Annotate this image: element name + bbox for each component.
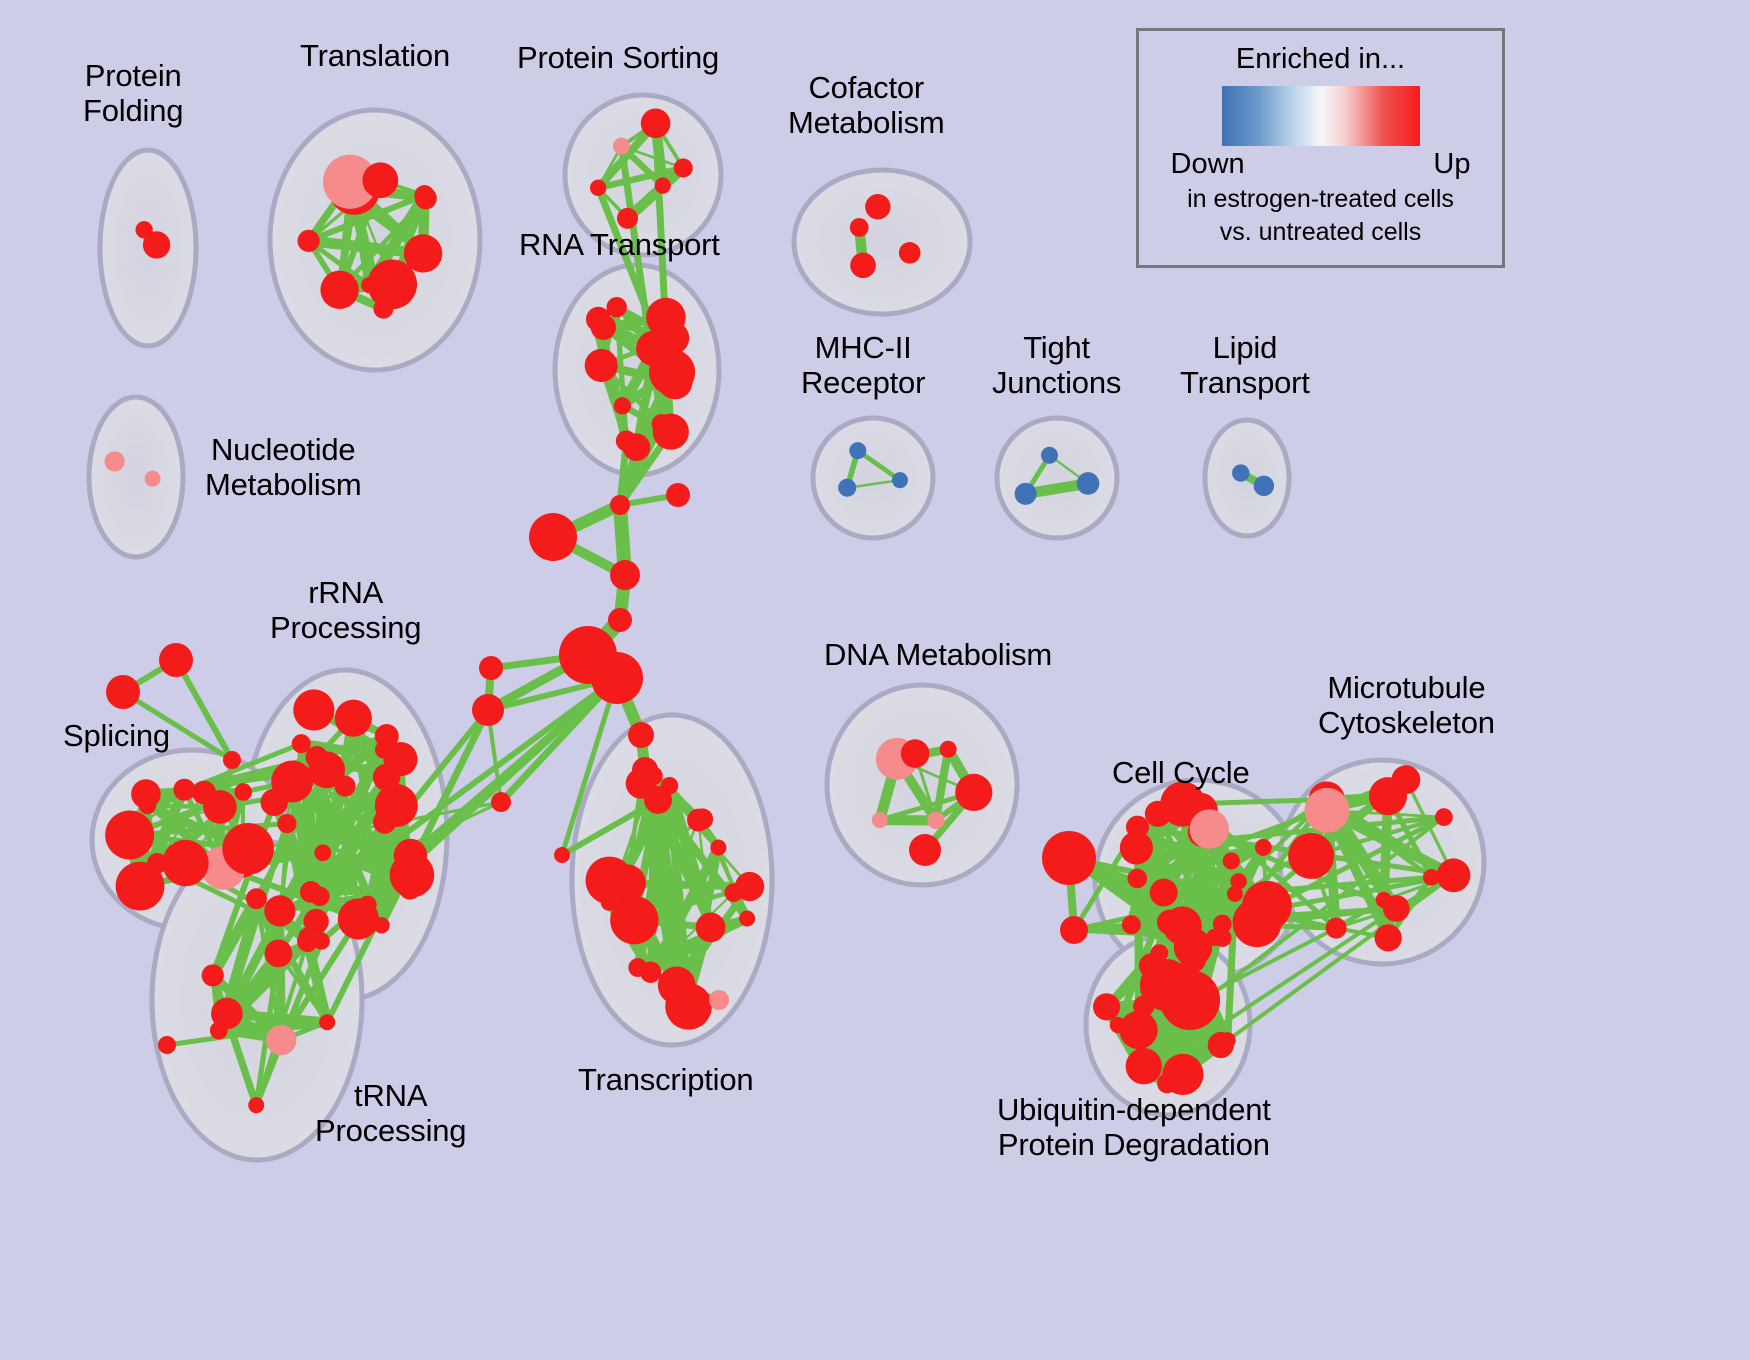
cluster-label-protein-folding: Protein Folding <box>83 58 183 129</box>
network-node <box>1255 839 1272 856</box>
legend-low-label: Down <box>1171 148 1245 181</box>
network-node <box>1126 816 1149 839</box>
network-node <box>1435 808 1453 826</box>
network-node <box>335 700 372 737</box>
network-node <box>901 739 930 768</box>
network-node <box>246 888 267 909</box>
network-node <box>1119 1011 1157 1049</box>
network-node <box>335 776 356 797</box>
network-node <box>849 442 866 459</box>
network-node <box>1223 852 1240 869</box>
network-node <box>1110 1017 1126 1033</box>
network-node <box>710 840 726 856</box>
network-node <box>1042 831 1096 885</box>
network-node <box>222 823 274 875</box>
network-node <box>1254 476 1274 496</box>
network-node <box>850 253 876 279</box>
network-node <box>628 958 647 977</box>
network-node <box>1232 464 1249 481</box>
network-node <box>116 862 165 911</box>
network-node <box>614 397 631 414</box>
network-node <box>653 414 689 450</box>
cluster-hull-cofactor-metabolism <box>794 170 970 314</box>
network-node <box>591 652 643 704</box>
network-node <box>1423 869 1440 886</box>
network-node <box>1157 910 1182 935</box>
cluster-label-protein-sorting: Protein Sorting <box>517 40 719 75</box>
network-node <box>271 907 288 924</box>
network-node <box>585 349 618 382</box>
legend-caption-line2: vs. untreated cells <box>1139 218 1502 247</box>
network-node <box>609 864 646 901</box>
cluster-hull-mhc-ii-receptor <box>813 418 933 538</box>
network-node <box>293 689 334 730</box>
network-node <box>1376 892 1392 908</box>
cluster-label-cofactor-metabolism: Cofactor Metabolism <box>788 70 945 141</box>
network-node <box>617 208 638 229</box>
network-node <box>610 560 640 590</box>
cluster-label-lipid-transport: Lipid Transport <box>1180 330 1310 401</box>
cluster-label-transcription: Transcription <box>578 1062 753 1097</box>
network-node <box>1208 1032 1234 1058</box>
network-node <box>1140 959 1192 1011</box>
network-node <box>277 814 296 833</box>
network-node <box>1150 879 1178 907</box>
network-node <box>223 751 241 769</box>
network-node <box>739 910 755 926</box>
network-node <box>319 1014 335 1030</box>
network-node <box>105 810 154 859</box>
network-node <box>899 242 921 264</box>
network-node <box>1127 869 1147 889</box>
network-node <box>909 834 941 866</box>
legend-caption-line1: in estrogen-treated cells <box>1139 185 1502 214</box>
network-node <box>297 931 318 952</box>
network-node <box>1126 1048 1162 1084</box>
network-node <box>865 194 890 219</box>
cluster-label-microtubule-cytoskeleton: Microtubule Cytoskeleton <box>1318 670 1495 741</box>
network-node <box>491 792 511 812</box>
network-node <box>666 483 690 507</box>
network-figure: Protein FoldingTranslationProtein Sortin… <box>0 0 1750 1360</box>
network-node <box>607 297 627 317</box>
network-node <box>1077 472 1100 495</box>
network-node <box>211 998 243 1030</box>
network-node <box>641 109 671 139</box>
cluster-label-mhc-ii-receptor: MHC-II Receptor <box>801 330 925 401</box>
network-node <box>1437 858 1471 892</box>
network-node <box>202 964 224 986</box>
network-node <box>628 722 654 748</box>
network-node <box>554 847 570 863</box>
network-node <box>632 757 658 783</box>
network-node <box>266 1025 296 1055</box>
network-node <box>1369 777 1407 815</box>
network-node <box>383 742 417 776</box>
cluster-label-rna-transport: RNA Transport <box>519 227 720 262</box>
legend-colorbar <box>1222 86 1420 146</box>
legend-title: Enriched in... <box>1139 43 1502 76</box>
network-node <box>838 479 856 497</box>
network-node <box>872 812 888 828</box>
network-node <box>1157 1073 1177 1093</box>
network-node <box>131 779 161 809</box>
cluster-label-cell-cycle: Cell Cycle <box>1112 755 1250 790</box>
cluster-label-splicing: Splicing <box>63 718 170 753</box>
network-node <box>135 221 152 238</box>
network-node <box>649 349 695 395</box>
network-node <box>1230 873 1246 889</box>
network-node <box>601 895 617 911</box>
network-node <box>586 312 604 330</box>
network-node <box>850 218 869 237</box>
network-node <box>265 939 293 967</box>
network-node <box>1326 918 1347 939</box>
network-node <box>145 471 161 487</box>
network-node <box>479 656 503 680</box>
cluster-label-dna-metabolism: DNA Metabolism <box>824 637 1052 672</box>
network-node <box>373 810 396 833</box>
network-node <box>610 495 630 515</box>
network-node <box>1093 993 1120 1020</box>
network-node <box>162 840 208 886</box>
network-node <box>261 789 288 816</box>
network-node <box>158 1036 176 1054</box>
network-node <box>173 779 195 801</box>
network-node <box>472 694 504 726</box>
network-node <box>390 853 435 898</box>
network-node <box>1060 916 1088 944</box>
cluster-label-ubiquitin-degradation: Ubiquitin-dependent Protein Degradation <box>997 1092 1271 1163</box>
network-node <box>1288 833 1334 879</box>
network-node <box>320 271 358 309</box>
network-node <box>192 781 216 805</box>
network-node <box>940 741 957 758</box>
network-node <box>927 812 944 829</box>
network-node <box>955 774 992 811</box>
cluster-label-nucleotide-metabolism: Nucleotide Metabolism <box>205 432 362 503</box>
network-node <box>1305 788 1350 833</box>
network-node <box>106 675 140 709</box>
network-node <box>1015 483 1037 505</box>
network-node <box>415 187 437 209</box>
network-node <box>159 643 193 677</box>
network-node <box>361 277 377 293</box>
network-node <box>1190 809 1229 848</box>
cluster-label-translation: Translation <box>300 38 450 73</box>
network-node <box>1242 881 1292 931</box>
network-node <box>362 162 398 198</box>
network-node <box>665 983 712 1030</box>
legend-panel: Enriched in... Down Up in estrogen-treat… <box>1136 28 1505 268</box>
network-node <box>655 178 671 194</box>
cluster-label-rrna-processing: rRNA Processing <box>270 575 421 646</box>
network-node <box>590 180 606 196</box>
network-node <box>234 783 252 801</box>
network-node <box>1375 924 1402 951</box>
network-node <box>644 786 672 814</box>
network-node <box>674 158 693 177</box>
network-node <box>892 472 908 488</box>
network-node <box>608 608 632 632</box>
network-node <box>610 896 658 944</box>
network-node <box>709 990 729 1010</box>
network-node <box>613 138 630 155</box>
network-node <box>314 844 331 861</box>
network-node <box>696 912 726 942</box>
legend-high-label: Up <box>1433 148 1470 181</box>
network-node <box>248 1097 264 1113</box>
cluster-hull-nucleotide-metabolism <box>89 397 183 557</box>
network-node <box>529 513 577 561</box>
network-node <box>692 808 713 829</box>
cluster-label-tight-junctions: Tight Junctions <box>992 330 1121 401</box>
cluster-hull-tight-junctions <box>997 418 1117 538</box>
network-node <box>298 230 320 252</box>
cluster-label-trna-processing: tRNA Processing <box>315 1078 466 1149</box>
network-node <box>1122 915 1141 934</box>
network-node <box>338 898 379 939</box>
network-node <box>735 872 764 901</box>
network-node <box>105 451 125 471</box>
network-node <box>623 433 651 461</box>
network-node <box>373 299 393 319</box>
network-node <box>1041 447 1058 464</box>
network-node <box>310 887 330 907</box>
